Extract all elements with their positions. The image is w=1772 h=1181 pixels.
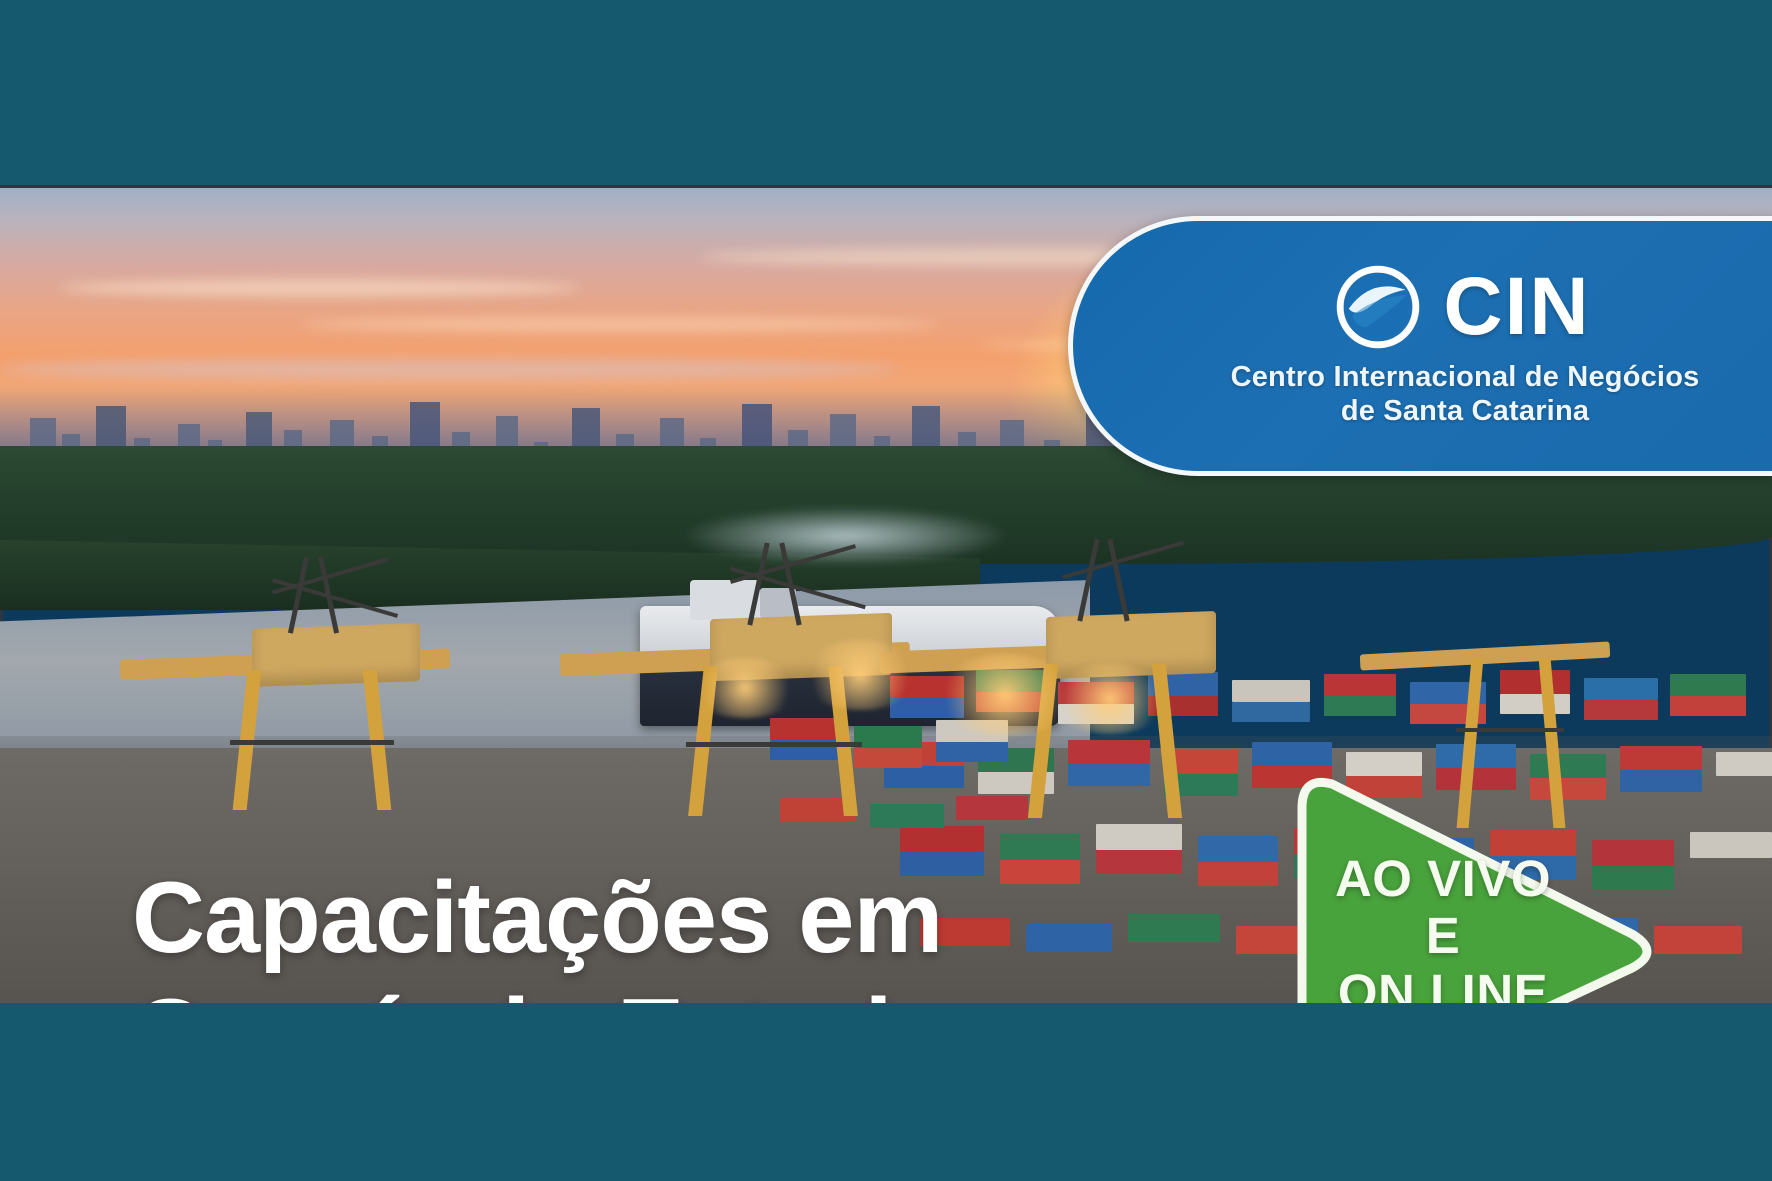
headline-line-1: Capacitações em [132, 862, 942, 974]
promo-banner: Capacitações em Comércio Exterior AO VIV… [0, 188, 1772, 1003]
cin-tagline-line-1: Centro Internacional de Negócios [1231, 360, 1700, 394]
badge-line-1: AO VIVO [1335, 850, 1551, 907]
headline-line-2: Comércio Exterior [132, 977, 1142, 1003]
page-title: Capacitações em Comércio Exterior [132, 860, 1142, 1003]
live-online-label: AO VIVO E ON LINE [1318, 850, 1568, 1003]
cin-wordmark: CIN [1443, 266, 1590, 348]
live-online-badge[interactable]: AO VIVO E ON LINE [1280, 746, 1670, 1003]
cin-tagline-line-2: de Santa Catarina [1231, 394, 1700, 428]
badge-line-3: ON LINE [1338, 964, 1548, 1003]
cin-globe-icon [1335, 264, 1421, 350]
badge-line-2: E [1318, 907, 1568, 964]
cin-logo-lockup: CIN [1335, 264, 1590, 350]
page-root: Capacitações em Comércio Exterior AO VIV… [0, 0, 1772, 1181]
cin-tagline: Centro Internacional de Negócios de Sant… [1231, 360, 1700, 428]
cin-brand-panel[interactable]: CIN Centro Internacional de Negócios de … [1068, 216, 1772, 476]
